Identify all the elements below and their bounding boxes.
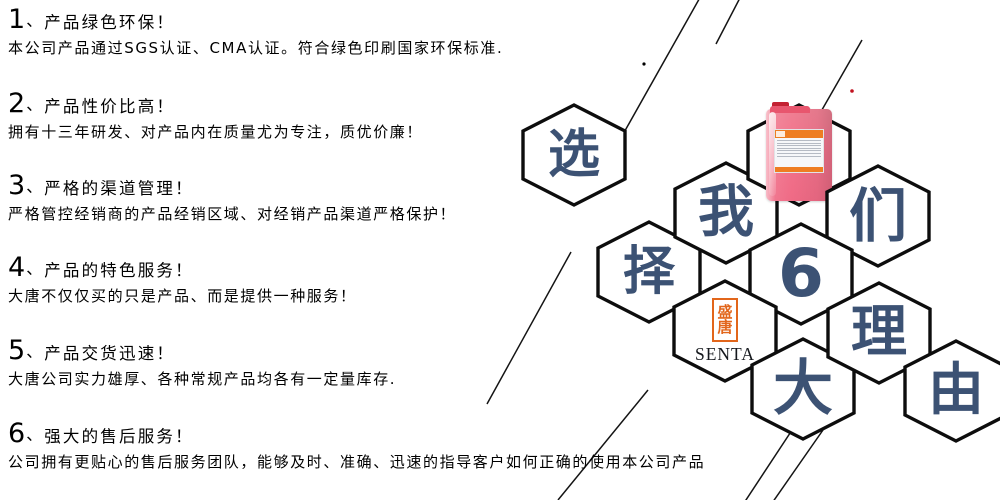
brand-wordmark: SENTA — [695, 344, 755, 365]
hex-label-you: 由 — [903, 339, 1000, 443]
can-neck — [770, 106, 810, 113]
hex-cell-xuan: 选 — [521, 103, 627, 207]
hex-cell-you: 由 — [903, 339, 1000, 443]
can-label — [774, 129, 824, 173]
can-label-text-lines — [775, 138, 823, 157]
honeycomb-headline-graphic: 选 择 我 — [0, 0, 1000, 500]
brand-seal-icon: 盛 唐 — [712, 298, 738, 342]
can-label-header-bar — [775, 130, 823, 138]
promo-banner: 1 、 产品绿色环保！ 本公司产品通过SGS认证、CMA认证。符合绿色印刷国家环… — [0, 0, 1000, 500]
hex-label-xuan: 选 — [521, 103, 627, 207]
chemical-jerrycan-icon — [766, 109, 832, 201]
can-label-footer-bar — [775, 167, 823, 172]
brand-seal-char-bottom: 唐 — [717, 320, 732, 334]
